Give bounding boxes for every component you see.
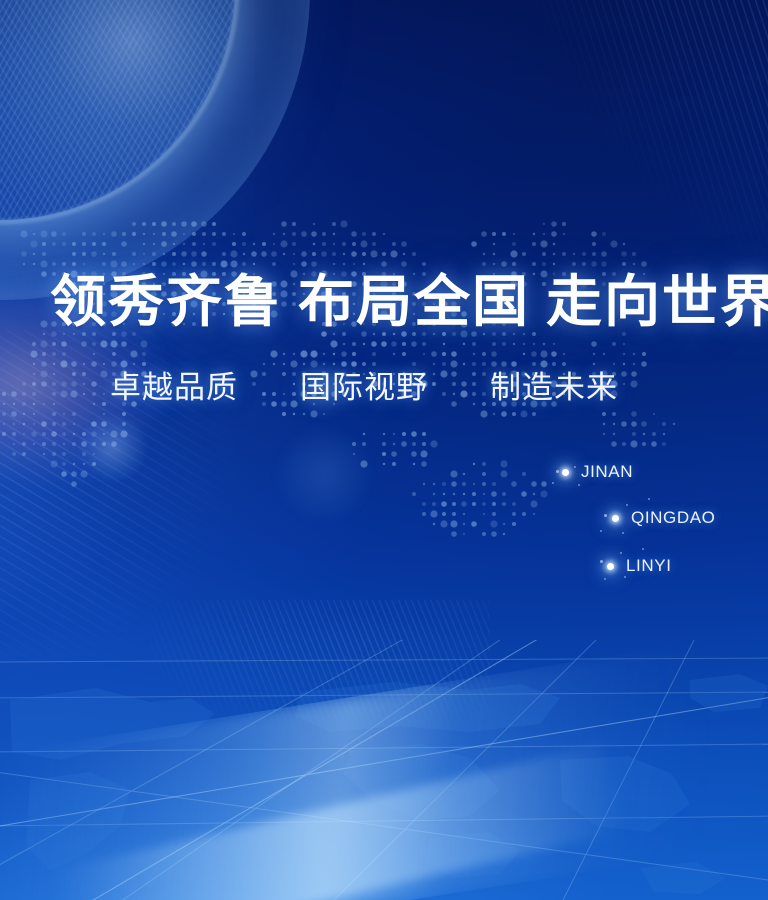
subheadline-part-2: 国际视野: [300, 370, 428, 405]
banner-headline: 领秀齐鲁布局全国走向世界: [50, 272, 740, 334]
map-accent-dot: [578, 484, 580, 486]
headline-part-1: 领秀齐鲁: [50, 272, 282, 334]
map-accent-dot: [556, 470, 559, 473]
map-accent-dot: [642, 548, 644, 550]
map-accent-dot: [624, 576, 626, 578]
banner-subheadline: 卓越品质国际视野制造未来: [110, 370, 710, 406]
location-dot-icon: [562, 469, 569, 476]
city-marker-qingdao[interactable]: QINGDAO: [612, 508, 716, 528]
banner-content: 领秀齐鲁布局全国走向世界 卓越品质国际视野制造未来 JINAN QINGDAO …: [0, 0, 768, 900]
map-accent-dot: [604, 578, 606, 580]
map-accent-dot: [552, 482, 554, 484]
map-accent-dot: [600, 530, 602, 532]
map-accent-dot: [648, 498, 650, 500]
city-label: LINYI: [626, 556, 672, 576]
map-accent-dot: [600, 560, 603, 563]
city-label: JINAN: [581, 462, 633, 482]
hero-banner: 领秀齐鲁布局全国走向世界 卓越品质国际视野制造未来 JINAN QINGDAO …: [0, 0, 768, 900]
subheadline-part-1: 卓越品质: [110, 370, 238, 405]
headline-part-3: 走向世界: [546, 272, 768, 334]
map-accent-dot: [626, 504, 628, 506]
headline-part-2: 布局全国: [298, 272, 530, 334]
map-accent-dot: [574, 466, 576, 468]
map-accent-dot: [622, 532, 624, 534]
subheadline-part-3: 制造未来: [490, 370, 618, 405]
location-dot-icon: [607, 563, 614, 570]
map-accent-dot: [604, 514, 607, 517]
location-dot-icon: [612, 515, 619, 522]
map-accent-dot: [620, 552, 622, 554]
city-label: QINGDAO: [631, 508, 716, 528]
city-marker-jinan[interactable]: JINAN: [562, 462, 633, 482]
city-marker-linyi[interactable]: LINYI: [607, 556, 672, 576]
